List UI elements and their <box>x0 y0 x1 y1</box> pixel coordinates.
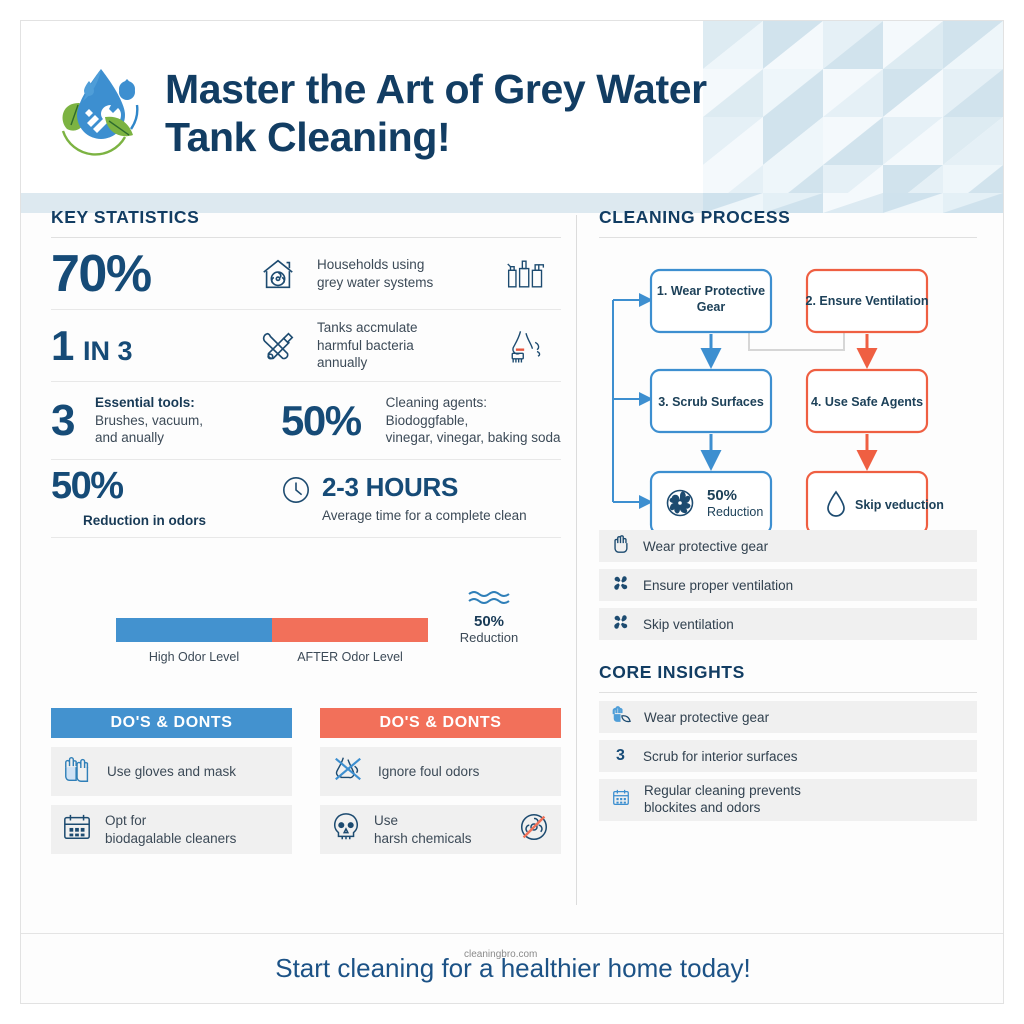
donts-header: DO'S & DONTS <box>320 708 561 738</box>
nose-odor-icon <box>491 326 561 366</box>
checklist-item-1-text: Ensure proper ventilation <box>643 578 793 593</box>
odor-reduction-cell: 50% Reduction in odors <box>51 467 281 530</box>
water-droplet-wrench-leaf-logo <box>49 59 151 161</box>
no-nose-odor-icon <box>330 753 366 790</box>
flowchart-svg: 1. Wear Protective Gear 2. Ensure Ventil… <box>599 260 977 530</box>
cleaning-process-heading: CLEANING PROCESS <box>599 207 977 228</box>
hand-icon <box>611 534 630 559</box>
checklist-item-protective-gear: Wear protective gear <box>599 530 977 562</box>
stat-value-70: 70% <box>51 248 251 300</box>
cleaning-process-flowchart: 1. Wear Protective Gear 2. Ensure Ventil… <box>599 260 977 530</box>
odor-reduction-bar-chart: High Odor Level AFTER Odor Level 50% Red… <box>51 578 561 674</box>
column-divider <box>576 215 577 905</box>
agents-cell: 50% Cleaning agents: Biodoggfable, vineg… <box>281 394 561 447</box>
tools-detail: Brushes, vacuum, and anually <box>95 413 203 446</box>
title-line-2: Tank Cleaning! <box>165 114 450 160</box>
tools-text: Essential tools: Brushes, vacuum, and an… <box>95 394 203 447</box>
bar-annotation-percent: 50% <box>444 613 534 630</box>
key-statistics-heading: KEY STATISTICS <box>51 207 561 228</box>
process-checklist: Wear protective gear Ensure proper venti… <box>599 530 977 640</box>
gloves-icon <box>61 753 95 790</box>
dos-item-biodegradable: Opt for biodagalable cleaners <box>51 805 292 854</box>
left-column: KEY STATISTICS 70% <box>51 207 561 854</box>
svg-text:1. Wear Protective: 1. Wear Protective <box>657 284 765 298</box>
svg-text:2. Ensure Ventilation: 2. Ensure Ventilation <box>806 294 929 308</box>
wrench-hammer-icon <box>251 327 305 365</box>
svg-text:3. Scrub Surfaces: 3. Scrub Surfaces <box>658 395 764 409</box>
spray-bottles-icon <box>491 254 561 294</box>
body: KEY STATISTICS 70% <box>21 193 1003 983</box>
tools-cell: 3 Essential tools: Brushes, vacuum, and … <box>51 394 281 447</box>
bar-annotation: 50% Reduction <box>444 588 534 645</box>
svg-text:50%: 50% <box>707 487 737 504</box>
bar-segment-high-odor <box>116 618 272 642</box>
bar-annotation-label: Reduction <box>444 630 534 645</box>
svg-text:Skip veduction: Skip veduction <box>855 498 944 512</box>
house-biohazard-icon <box>251 255 305 293</box>
dos-header: DO'S & DONTS <box>51 708 292 738</box>
insight-item-scrub: 3 Scrub for interior surfaces <box>599 740 977 772</box>
hours-value: 2-3 HOURS <box>322 472 527 503</box>
divider <box>599 692 977 693</box>
fan-icon <box>611 573 630 598</box>
wave-icon <box>444 588 534 613</box>
insight-item-regular-cleaning: Regular cleaning prevents blockites and … <box>599 779 977 821</box>
checklist-item-2-text: Skip ventilation <box>643 617 734 632</box>
donts-item-ignore-odors: Ignore foul odors <box>320 747 561 796</box>
no-chemicals-icon <box>517 810 551 849</box>
right-column: CLEANING PROCESS <box>599 207 977 828</box>
dos-item-biodegradable-text: Opt for biodagalable cleaners <box>105 812 282 847</box>
fan-icon <box>611 612 630 637</box>
dos-and-donts-section: DO'S & DONTS Use gloves and mask <box>51 708 561 854</box>
checklist-item-ventilation: Ensure proper ventilation <box>599 569 977 601</box>
header: Master the Art of Grey Water Tank Cleani… <box>21 21 1003 193</box>
bar-label-after-odor: AFTER Odor Level <box>272 650 428 664</box>
clock-icon <box>281 475 311 510</box>
stat-value-50-odor: 50% <box>51 467 281 505</box>
agents-text: Cleaning agents: Biodoggfable, vinegar, … <box>386 394 561 447</box>
footer: Start cleaning for a healthier home toda… <box>21 933 1004 1003</box>
time-cell: 2-3 HOURS Average time for a complete cl… <box>281 472 561 525</box>
glove-leaf-icon <box>611 705 631 730</box>
svg-text:Reduction: Reduction <box>707 505 763 519</box>
calendar-icon <box>611 788 631 813</box>
divider <box>599 237 977 238</box>
title-line-1: Master the Art of Grey Water <box>165 66 707 112</box>
insight-item-1-text: Scrub for interior surfaces <box>643 749 798 764</box>
bar-label-high-odor: High Odor Level <box>116 650 272 664</box>
checklist-item-skip-ventilation: Skip ventilation <box>599 608 977 640</box>
dos-column: DO'S & DONTS Use gloves and mask <box>51 708 292 854</box>
number-3-icon: 3 <box>611 747 630 765</box>
tools-label: Essential tools: <box>95 395 195 410</box>
hours-caption: Average time for a complete clean <box>322 507 527 525</box>
insight-item-protective-gear: Wear protective gear <box>599 701 977 733</box>
stat-value-3: 3 <box>51 399 95 443</box>
stat-row-bacteria: 1 IN 3 Tanks accmulate harmful bacteria … <box>51 310 561 382</box>
calendar-icon <box>61 812 93 847</box>
bar-track <box>116 618 428 642</box>
dos-item-gloves: Use gloves and mask <box>51 747 292 796</box>
donts-item-harsh-chemicals-text: Use harsh chemicals <box>374 812 505 847</box>
insight-item-2-text: Regular cleaning prevents blockites and … <box>644 783 801 817</box>
donts-item-ignore-odors-text: Ignore foul odors <box>378 763 551 781</box>
donts-column: DO'S & DONTS Ignore foul odors <box>320 708 561 854</box>
core-insights-heading: CORE INSIGHTS <box>599 662 977 683</box>
insight-item-0-text: Wear protective gear <box>644 710 769 725</box>
skull-icon <box>330 811 362 848</box>
donts-item-harsh-chemicals: Use harsh chemicals <box>320 805 561 854</box>
stat-row-tools-agents: 3 Essential tools: Brushes, vacuum, and … <box>51 382 561 460</box>
checklist-item-0-text: Wear protective gear <box>643 539 768 554</box>
bar-segment-after-odor <box>272 618 428 642</box>
watermark: cleaningbro.com <box>464 949 537 960</box>
stat-value-50-agents: 50% <box>281 400 386 442</box>
stat-value-1-in-3: 1 IN 3 <box>51 325 251 367</box>
stat-text-bacteria: Tanks accmulate harmful bacteria annuall… <box>305 319 491 372</box>
stat-row-households: 70% Households using grey water systems <box>51 238 561 310</box>
svg-text:4. Use Safe Agents: 4. Use Safe Agents <box>811 395 923 409</box>
time-text-block: 2-3 HOURS Average time for a complete cl… <box>322 472 527 525</box>
core-insights-list: Wear protective gear 3 Scrub for interio… <box>599 701 977 821</box>
infographic-poster: Master the Art of Grey Water Tank Cleani… <box>20 20 1004 1004</box>
odor-reduction-caption: Reduction in odors <box>83 512 281 530</box>
dos-item-gloves-text: Use gloves and mask <box>107 763 282 781</box>
page-title: Master the Art of Grey Water Tank Cleani… <box>165 65 905 162</box>
stat-text-households: Households using grey water systems <box>305 256 491 292</box>
svg-text:Gear: Gear <box>697 300 726 314</box>
stat-suffix: IN 3 <box>83 336 133 366</box>
stat-row-odor-time: 50% Reduction in odors 2-3 HOURS Average… <box>51 460 561 538</box>
stat-number: 1 <box>51 322 73 369</box>
